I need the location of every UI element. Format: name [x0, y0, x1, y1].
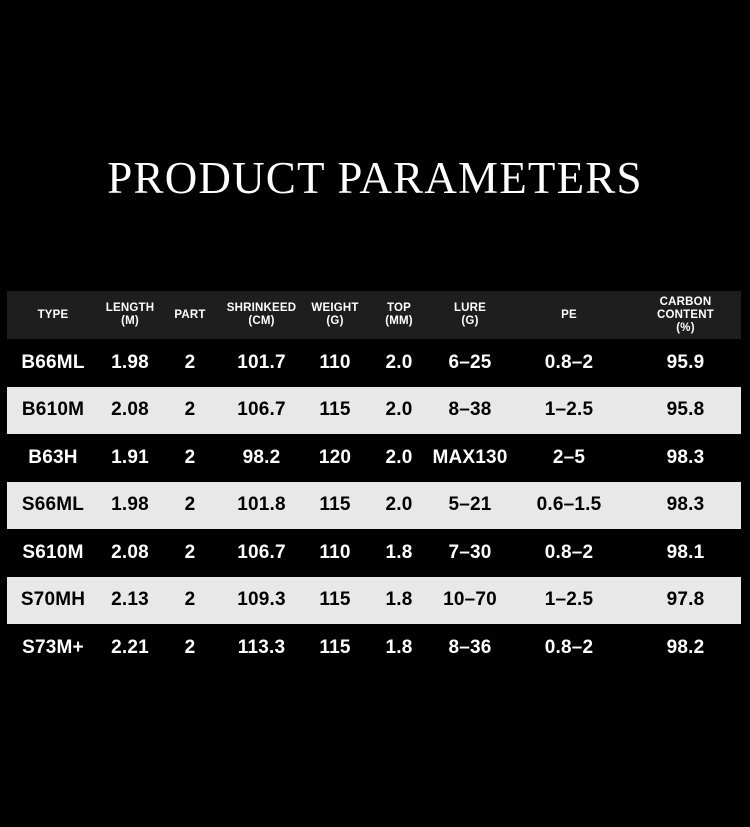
- column-header-length-unit: (M): [99, 315, 161, 328]
- cell-type: S66ML: [7, 482, 99, 530]
- cell-carbon-content: 97.8: [630, 577, 741, 625]
- column-header-shrinkeed-label: SHRINKEED: [227, 302, 297, 314]
- column-header-top-label: TOP: [387, 302, 411, 314]
- cell-lure: 8–36: [432, 624, 508, 672]
- cell-top: 1.8: [366, 577, 432, 625]
- cell-carbon-content: 98.2: [630, 624, 741, 672]
- cell-weight: 110: [304, 339, 366, 387]
- cell-carbon-content: 98.3: [630, 482, 741, 530]
- cell-type: S70MH: [7, 577, 99, 625]
- table-row: B66ML 1.98 2 101.7 110 2.0 6–25 0.8–2 95…: [7, 339, 741, 387]
- cell-lure: MAX130: [432, 434, 508, 482]
- column-header-length: LENGTH (M): [99, 291, 161, 339]
- cell-type: B66ML: [7, 339, 99, 387]
- table-row: B63H 1.91 2 98.2 120 2.0 MAX130 2–5 98.3: [7, 434, 741, 482]
- table-row: S610M 2.08 2 106.7 110 1.8 7–30 0.8–2 98…: [7, 529, 741, 577]
- cell-pe: 1–2.5: [508, 387, 630, 435]
- parameters-table-container: TYPE LENGTH (M) PART SHRINKEED (CM) WEIG: [7, 291, 741, 672]
- cell-shrinkeed: 98.2: [219, 434, 304, 482]
- cell-weight: 115: [304, 387, 366, 435]
- cell-top: 2.0: [366, 482, 432, 530]
- table-header-row: TYPE LENGTH (M) PART SHRINKEED (CM) WEIG: [7, 291, 741, 339]
- cell-top: 2.0: [366, 387, 432, 435]
- cell-lure: 8–38: [432, 387, 508, 435]
- table-header: TYPE LENGTH (M) PART SHRINKEED (CM) WEIG: [7, 291, 741, 339]
- cell-weight: 115: [304, 482, 366, 530]
- column-header-weight-label: WEIGHT: [311, 302, 358, 314]
- cell-pe: 0.8–2: [508, 339, 630, 387]
- cell-lure: 7–30: [432, 529, 508, 577]
- cell-carbon-content: 95.9: [630, 339, 741, 387]
- cell-weight: 115: [304, 577, 366, 625]
- column-header-type-label: TYPE: [38, 309, 69, 321]
- cell-part: 2: [161, 624, 219, 672]
- cell-part: 2: [161, 434, 219, 482]
- table-row: S66ML 1.98 2 101.8 115 2.0 5–21 0.6–1.5 …: [7, 482, 741, 530]
- cell-shrinkeed: 106.7: [219, 387, 304, 435]
- column-header-type: TYPE: [7, 291, 99, 339]
- cell-shrinkeed: 113.3: [219, 624, 304, 672]
- cell-weight: 110: [304, 529, 366, 577]
- cell-length: 1.98: [99, 339, 161, 387]
- cell-length: 2.08: [99, 529, 161, 577]
- cell-pe: 0.8–2: [508, 624, 630, 672]
- table-row: B610M 2.08 2 106.7 115 2.0 8–38 1–2.5 95…: [7, 387, 741, 435]
- cell-top: 1.8: [366, 624, 432, 672]
- column-header-top-unit: (MM): [366, 315, 432, 328]
- column-header-lure-unit: (G): [432, 315, 508, 328]
- column-header-lure: LURE (G): [432, 291, 508, 339]
- cell-part: 2: [161, 577, 219, 625]
- cell-shrinkeed: 106.7: [219, 529, 304, 577]
- cell-carbon-content: 95.8: [630, 387, 741, 435]
- column-header-pe-label: PE: [561, 309, 577, 321]
- cell-length: 1.91: [99, 434, 161, 482]
- page-title: PRODUCT PARAMETERS: [0, 150, 750, 206]
- product-parameters-page: PRODUCT PARAMETERS TYPE: [0, 0, 750, 827]
- cell-weight: 120: [304, 434, 366, 482]
- table-row: S73M+ 2.21 2 113.3 115 1.8 8–36 0.8–2 98…: [7, 624, 741, 672]
- cell-lure: 10–70: [432, 577, 508, 625]
- cell-shrinkeed: 101.8: [219, 482, 304, 530]
- column-header-top: TOP (MM): [366, 291, 432, 339]
- cell-part: 2: [161, 339, 219, 387]
- cell-pe: 0.8–2: [508, 529, 630, 577]
- cell-part: 2: [161, 387, 219, 435]
- cell-type: B610M: [7, 387, 99, 435]
- cell-pe: 2–5: [508, 434, 630, 482]
- column-header-carbon-content-unit: (%): [630, 322, 741, 335]
- cell-part: 2: [161, 482, 219, 530]
- cell-weight: 115: [304, 624, 366, 672]
- cell-length: 2.08: [99, 387, 161, 435]
- cell-top: 2.0: [366, 434, 432, 482]
- cell-carbon-content: 98.1: [630, 529, 741, 577]
- cell-carbon-content: 98.3: [630, 434, 741, 482]
- cell-type: B63H: [7, 434, 99, 482]
- cell-shrinkeed: 101.7: [219, 339, 304, 387]
- table-body: B66ML 1.98 2 101.7 110 2.0 6–25 0.8–2 95…: [7, 339, 741, 672]
- cell-length: 1.98: [99, 482, 161, 530]
- column-header-length-label: LENGTH: [106, 302, 154, 314]
- cell-part: 2: [161, 529, 219, 577]
- cell-type: S73M+: [7, 624, 99, 672]
- cell-shrinkeed: 109.3: [219, 577, 304, 625]
- column-header-weight-unit: (G): [304, 315, 366, 328]
- cell-length: 2.13: [99, 577, 161, 625]
- cell-type: S610M: [7, 529, 99, 577]
- column-header-lure-label: LURE: [454, 302, 486, 314]
- cell-pe: 1–2.5: [508, 577, 630, 625]
- parameters-table: TYPE LENGTH (M) PART SHRINKEED (CM) WEIG: [7, 291, 741, 672]
- column-header-part: PART: [161, 291, 219, 339]
- column-header-shrinkeed-unit: (CM): [219, 315, 304, 328]
- cell-length: 2.21: [99, 624, 161, 672]
- column-header-pe: PE: [508, 291, 630, 339]
- column-header-weight: WEIGHT (G): [304, 291, 366, 339]
- column-header-carbon-content-label: CARBON CONTENT: [657, 296, 714, 321]
- cell-pe: 0.6–1.5: [508, 482, 630, 530]
- cell-lure: 6–25: [432, 339, 508, 387]
- column-header-shrinkeed: SHRINKEED (CM): [219, 291, 304, 339]
- cell-top: 1.8: [366, 529, 432, 577]
- table-row: S70MH 2.13 2 109.3 115 1.8 10–70 1–2.5 9…: [7, 577, 741, 625]
- column-header-part-label: PART: [174, 309, 205, 321]
- cell-top: 2.0: [366, 339, 432, 387]
- column-header-carbon-content: CARBON CONTENT (%): [630, 291, 741, 339]
- cell-lure: 5–21: [432, 482, 508, 530]
